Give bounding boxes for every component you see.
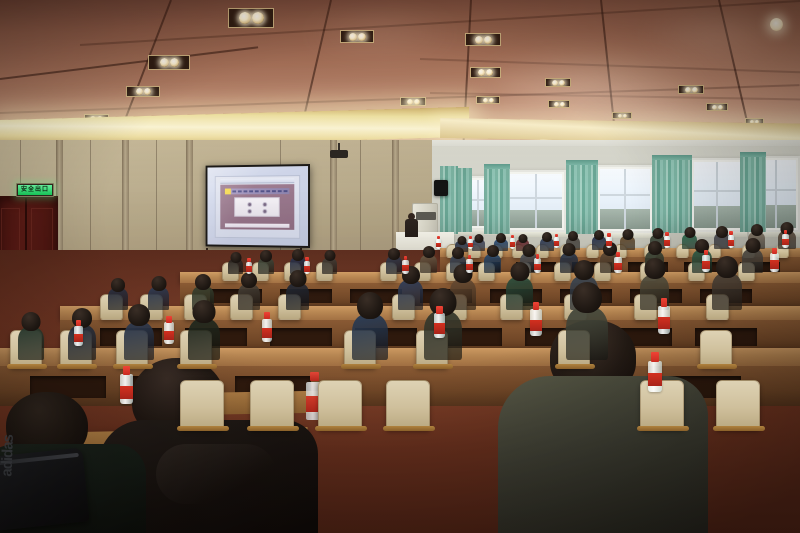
person-torso bbox=[398, 280, 423, 310]
person-head bbox=[457, 236, 466, 245]
water-bottle[interactable] bbox=[436, 236, 441, 249]
chair-armrest bbox=[713, 426, 765, 431]
chair bbox=[386, 380, 430, 430]
chair-armrest bbox=[177, 364, 217, 369]
chair-armrest bbox=[341, 364, 381, 369]
audience-member bbox=[124, 304, 154, 360]
bottle-cap bbox=[555, 234, 558, 237]
person-head bbox=[684, 227, 695, 238]
bottle-label bbox=[664, 240, 670, 245]
audience-member bbox=[484, 245, 501, 273]
person-torso bbox=[124, 322, 154, 360]
bottle-cap bbox=[123, 366, 130, 375]
adidas-bag[interactable]: adidas bbox=[0, 447, 90, 530]
water-bottle[interactable] bbox=[664, 232, 670, 248]
audience-member bbox=[742, 238, 763, 273]
bottle-label bbox=[728, 240, 734, 246]
person-head bbox=[230, 252, 241, 263]
person-head bbox=[622, 229, 633, 240]
bottle-cap bbox=[305, 257, 308, 261]
chair-armrest bbox=[315, 426, 367, 431]
bottle-cap bbox=[76, 320, 81, 326]
audience-member bbox=[258, 250, 274, 274]
bottle-cap bbox=[665, 232, 668, 236]
bottle-label bbox=[164, 331, 174, 341]
water-bottle[interactable] bbox=[782, 230, 789, 248]
person-head bbox=[260, 250, 272, 262]
bottle-cap bbox=[166, 316, 172, 323]
chair-armrest bbox=[697, 364, 737, 369]
chair-armrest bbox=[555, 364, 595, 369]
bottle-cap bbox=[607, 233, 610, 237]
person-head bbox=[193, 300, 216, 323]
audience-member bbox=[188, 300, 220, 360]
person-head bbox=[652, 228, 663, 239]
adidas-brand-text: adidas bbox=[0, 435, 17, 477]
person-head bbox=[151, 276, 166, 291]
water-bottle[interactable] bbox=[164, 316, 174, 344]
audience-member bbox=[352, 292, 388, 360]
person-head bbox=[751, 224, 763, 236]
bottle-label bbox=[530, 320, 542, 332]
water-bottle[interactable] bbox=[304, 257, 310, 274]
person-head bbox=[574, 260, 594, 280]
audience-member bbox=[322, 250, 337, 274]
bottle-cap bbox=[729, 231, 732, 235]
chair-armrest bbox=[413, 364, 453, 369]
person-head bbox=[388, 248, 400, 260]
person-torso bbox=[18, 327, 44, 360]
water-bottle[interactable] bbox=[614, 252, 622, 273]
bottle-cap bbox=[616, 252, 620, 257]
bottle-cap bbox=[651, 352, 659, 362]
person-head bbox=[474, 234, 483, 243]
audience-member bbox=[238, 272, 260, 310]
water-bottle[interactable] bbox=[530, 302, 542, 336]
water-bottle[interactable] bbox=[74, 320, 83, 346]
person-head bbox=[542, 232, 552, 242]
water-bottle[interactable] bbox=[648, 352, 662, 392]
water-bottle[interactable] bbox=[246, 258, 252, 274]
water-bottle[interactable] bbox=[606, 233, 612, 248]
person-head bbox=[324, 250, 335, 261]
conference-room-photo: 安全出口 bbox=[0, 0, 800, 533]
bottle-label bbox=[402, 265, 409, 271]
person-head bbox=[594, 230, 604, 240]
water-bottle[interactable] bbox=[554, 234, 559, 248]
bottle-label bbox=[74, 334, 83, 343]
person-head bbox=[452, 247, 464, 259]
water-bottle[interactable] bbox=[262, 312, 272, 342]
person-head bbox=[716, 226, 728, 238]
person-torso bbox=[712, 273, 742, 310]
person-head bbox=[563, 243, 576, 256]
water-bottle[interactable] bbox=[770, 248, 779, 272]
audience-member bbox=[620, 229, 635, 250]
bottle-label bbox=[534, 264, 541, 270]
water-bottle[interactable] bbox=[120, 366, 133, 404]
bottle-cap bbox=[247, 258, 250, 262]
water-bottle[interactable] bbox=[510, 235, 515, 249]
chair bbox=[180, 380, 224, 430]
water-bottle[interactable] bbox=[466, 255, 473, 273]
bottle-label bbox=[702, 261, 710, 268]
chair bbox=[716, 380, 760, 430]
water-bottle[interactable] bbox=[702, 250, 710, 272]
bottle-cap bbox=[772, 248, 777, 254]
audience-member bbox=[540, 232, 554, 251]
jacket-highlight bbox=[156, 444, 276, 504]
bottle-cap bbox=[704, 250, 708, 255]
bottle-cap bbox=[436, 306, 442, 314]
chair bbox=[250, 380, 294, 430]
water-bottle[interactable] bbox=[468, 236, 473, 249]
bottle-cap bbox=[661, 298, 668, 307]
audience-member bbox=[18, 312, 44, 360]
chair-armrest bbox=[113, 364, 153, 369]
bottle-label bbox=[304, 266, 310, 272]
bottle-label bbox=[434, 323, 445, 334]
person-head bbox=[568, 231, 578, 241]
chair bbox=[318, 380, 362, 430]
audience-member bbox=[286, 270, 309, 310]
person-head bbox=[745, 238, 760, 253]
audience-member bbox=[506, 262, 533, 310]
bottle-label bbox=[554, 241, 559, 246]
bottle-label bbox=[614, 263, 622, 270]
person-torso bbox=[188, 319, 220, 360]
person-torso bbox=[566, 307, 608, 360]
person-head bbox=[716, 256, 738, 278]
chair-armrest bbox=[57, 364, 97, 369]
bottle-label bbox=[770, 260, 779, 268]
water-bottle[interactable] bbox=[658, 298, 670, 334]
person-head bbox=[487, 245, 499, 257]
bottle-label bbox=[648, 373, 662, 387]
bottle-label bbox=[510, 242, 515, 247]
bottle-cap bbox=[469, 236, 472, 239]
bottle-cap bbox=[533, 302, 540, 310]
person-head bbox=[496, 233, 506, 243]
chair-armrest bbox=[383, 426, 435, 431]
bottle-cap bbox=[437, 236, 440, 239]
bottle-label bbox=[246, 266, 252, 271]
person-head bbox=[518, 234, 527, 243]
chair-armrest bbox=[177, 426, 229, 431]
bottle-cap bbox=[511, 235, 514, 238]
person-head bbox=[111, 278, 125, 292]
person-head bbox=[128, 304, 150, 326]
audience-member bbox=[228, 252, 243, 274]
person-torso bbox=[506, 277, 533, 310]
person-head bbox=[572, 282, 602, 313]
bottle-label bbox=[468, 243, 473, 247]
bottle-label bbox=[436, 243, 441, 247]
bottle-label bbox=[782, 239, 789, 245]
person-head bbox=[241, 272, 257, 288]
bottle-cap bbox=[264, 312, 270, 319]
person-head bbox=[644, 258, 665, 279]
water-bottle[interactable] bbox=[728, 231, 734, 248]
bottle-label bbox=[262, 328, 272, 338]
audience-member bbox=[712, 256, 742, 310]
water-bottle[interactable] bbox=[534, 254, 541, 273]
bottle-label bbox=[120, 386, 133, 399]
person-head bbox=[423, 246, 435, 258]
audience-member bbox=[566, 282, 608, 360]
chair-armrest bbox=[7, 364, 47, 369]
person-head bbox=[195, 274, 211, 290]
bottle-cap bbox=[536, 254, 540, 259]
water-bottle[interactable] bbox=[434, 306, 445, 338]
person-head bbox=[648, 241, 662, 255]
person-head bbox=[510, 262, 529, 281]
person-head bbox=[292, 249, 304, 261]
bottle-label bbox=[606, 241, 612, 246]
chair-armrest bbox=[247, 426, 299, 431]
chair bbox=[700, 330, 732, 368]
person-torso bbox=[286, 283, 309, 310]
chair bbox=[640, 380, 684, 430]
bottle-label bbox=[466, 264, 473, 270]
person-torso bbox=[352, 314, 388, 360]
chair-armrest bbox=[637, 426, 689, 431]
water-bottle[interactable] bbox=[402, 256, 409, 274]
bottle-label bbox=[658, 317, 670, 329]
person-head bbox=[357, 292, 383, 319]
person-head bbox=[22, 312, 41, 331]
